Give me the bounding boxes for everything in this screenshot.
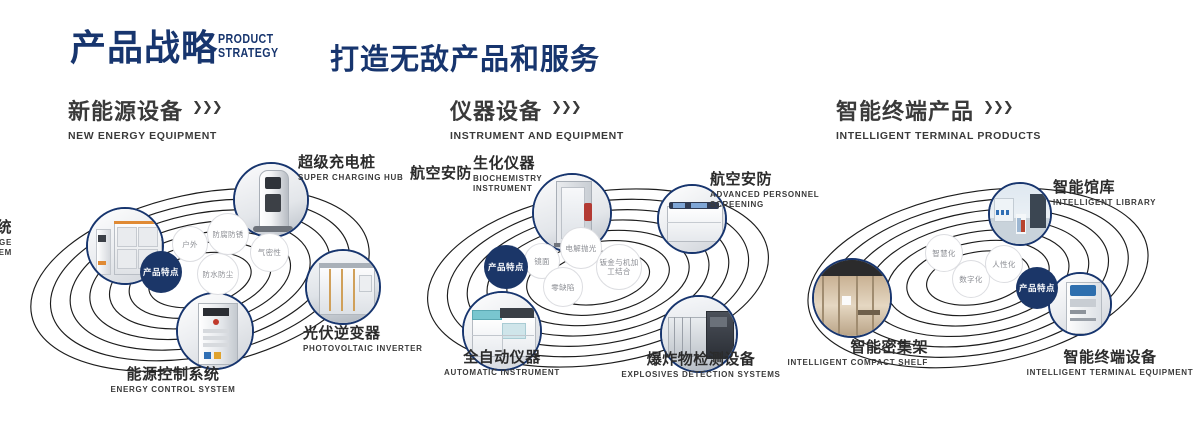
brand-en-line1: PRODUCT — [218, 32, 292, 46]
feature-bubble-primary[interactable]: 产品特点 — [484, 245, 528, 289]
node-label-intelligent-compact-shelf: 智能密集架 INTELLIGENT COMPACT SHELF — [760, 336, 928, 368]
feature-bubble-primary[interactable]: 产品特点 — [1016, 267, 1058, 309]
feature-bubble-primary[interactable]: 产品特点 — [140, 251, 182, 293]
section-title-cn: 智能终端产品 — [836, 94, 974, 126]
node-label-cn: 能源控制系统 — [78, 363, 268, 384]
node-label-cn: 储能系统 — [0, 216, 12, 237]
node-label-en: ENERGY STORAGE SYSTEM — [0, 238, 12, 258]
node-label-automatic-instrument: 全自动仪器 AUTOMATIC INSTRUMENT — [422, 346, 582, 377]
page-header: 产品战略 PRODUCT STRATEGY 打造无敌产品和服务 — [0, 0, 1200, 88]
node-label-cn: 全自动仪器 — [422, 346, 582, 367]
node-label-en: INTELLIGENT TERMINAL EQUIPMENT — [1015, 368, 1200, 377]
node-label-en: INTELLIGENT COMPACT SHELF — [760, 358, 928, 368]
chevron-triple-icon: ❯❯❯ — [983, 99, 1013, 115]
feature-bubble[interactable]: 户外 — [172, 226, 208, 262]
product-photo — [307, 251, 379, 323]
node-label-en: AUTOMATIC INSTRUMENT — [422, 368, 582, 377]
feature-bubble[interactable]: 气密性 — [250, 233, 289, 272]
diagram-panel-instrument: 镜面 电解抛光 钣金与机加工结合 零缺陷 产品特点 航空安防 生化仪器 BIOC… — [400, 150, 800, 410]
section-header-intelligent: 智能终端产品❯❯❯ INTELLIGENT TERMINAL PRODUCTS — [836, 94, 1041, 142]
diagram-panel-new-energy: 户外 防腐防锈 气密性 防水防尘 产品特点 储能系统 ENERGY STORAG… — [0, 150, 400, 410]
node-photo-energy-control-system[interactable] — [176, 292, 254, 370]
node-label-en: EXPLOSIVES DETECTION SYSTEMS — [616, 370, 786, 379]
chevron-triple-icon: ❯❯❯ — [551, 99, 581, 115]
node-photo-intelligent-compact-shelf[interactable] — [812, 258, 892, 338]
node-photo-intelligent-terminal-equipment[interactable] — [1048, 272, 1112, 336]
feature-bubble[interactable]: 防腐防锈 — [207, 213, 249, 255]
node-label-cn: 智能终端设备 — [1015, 346, 1200, 367]
section-title-cn: 仪器设备 — [450, 94, 542, 126]
node-label-cn: 航空安防 — [348, 162, 472, 183]
product-photo — [814, 260, 890, 336]
node-label-aviation-security-extra: 航空安防 — [348, 162, 472, 183]
node-label-en: ENERGY CONTROL SYSTEM — [78, 385, 268, 394]
node-label-cn: 智能馆库 — [1053, 176, 1200, 197]
section-title-en: INTELLIGENT TERMINAL PRODUCTS — [836, 130, 1041, 142]
feature-bubble[interactable]: 人性化 — [985, 245, 1023, 283]
node-label-energy-control-system: 能源控制系统 ENERGY CONTROL SYSTEM — [78, 363, 268, 394]
node-label-energy-storage: 储能系统 ENERGY STORAGE SYSTEM — [0, 216, 12, 258]
node-photo-photovoltaic-inverter[interactable] — [305, 249, 381, 325]
headline: 打造无敌产品和服务 — [330, 36, 600, 78]
node-label-en: BIOCHEMISTRY INSTRUMENT — [473, 174, 603, 194]
feature-bubble[interactable]: 零缺陷 — [543, 267, 583, 307]
node-label-intelligent-terminal-equipment: 智能终端设备 INTELLIGENT TERMINAL EQUIPMENT — [1015, 346, 1200, 377]
brand-title-en: PRODUCT STRATEGY — [218, 32, 292, 60]
product-photo — [990, 184, 1050, 244]
feature-bubble[interactable]: 防水防尘 — [197, 253, 239, 295]
node-label-cn: 智能密集架 — [760, 336, 928, 357]
node-label-biochemistry-instrument: 生化仪器 BIOCHEMISTRY INSTRUMENT — [473, 152, 603, 194]
section-title-en: NEW ENERGY EQUIPMENT — [68, 130, 222, 142]
node-label-en: INTELLIGENT LIBRARY — [1053, 198, 1200, 207]
node-label-intelligent-library: 智能馆库 INTELLIGENT LIBRARY — [1053, 176, 1200, 207]
section-header-instrument: 仪器设备❯❯❯ INSTRUMENT AND EQUIPMENT — [450, 94, 624, 142]
product-photo — [1050, 274, 1110, 334]
node-photo-intelligent-library[interactable] — [988, 182, 1052, 246]
diagram-panel-intelligent-terminal: 智慧化 数字化 人性化 产品特点 智能馆库 INTELLIGENT LIBRAR… — [800, 150, 1200, 410]
section-title-cn: 新能源设备 — [68, 94, 183, 126]
feature-bubble[interactable]: 钣金与机加工结合 — [596, 244, 642, 290]
section-header-new-energy: 新能源设备❯❯❯ NEW ENERGY EQUIPMENT — [68, 94, 222, 142]
section-title-en: INSTRUMENT AND EQUIPMENT — [450, 130, 624, 142]
brand-title-cn: 产品战略 — [70, 28, 218, 68]
node-label-cn: 生化仪器 — [473, 152, 603, 173]
chevron-triple-icon: ❯❯❯ — [192, 99, 222, 115]
brand-en-line2: STRATEGY — [218, 46, 292, 60]
product-photo — [178, 294, 252, 368]
